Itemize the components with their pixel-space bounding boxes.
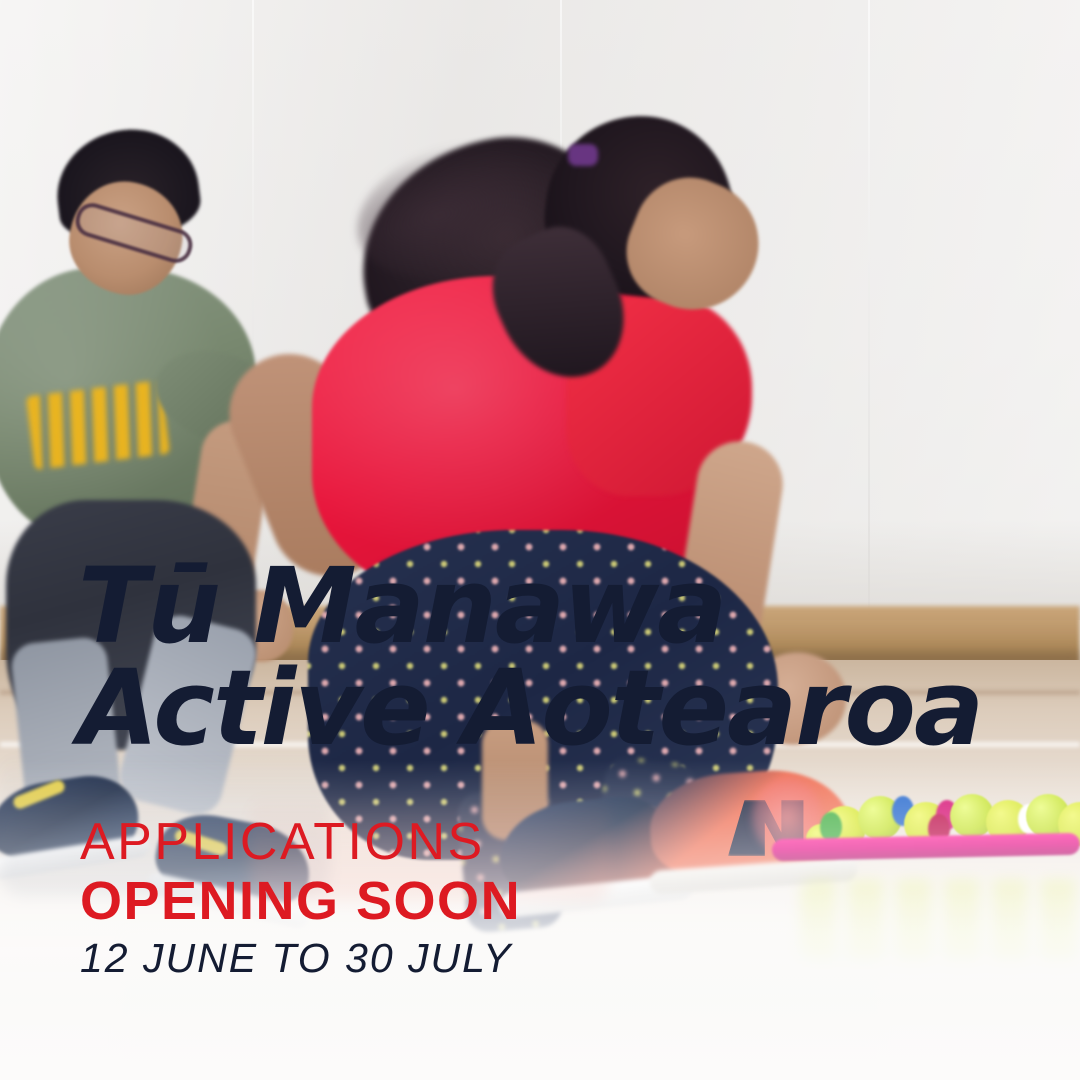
poster-canvas: Tū Manawa Active Aotearoa APPLICATIONS O… bbox=[0, 0, 1080, 1080]
application-dates: 12 JUNE TO 30 JULY bbox=[80, 938, 513, 979]
campaign-headline: Tū Manawa Active Aotearoa bbox=[78, 556, 1038, 760]
applications-label: APPLICATIONS bbox=[80, 816, 485, 868]
opening-soon-label: OPENING SOON bbox=[80, 874, 521, 928]
text-overlay: Tū Manawa Active Aotearoa APPLICATIONS O… bbox=[0, 0, 1080, 1080]
